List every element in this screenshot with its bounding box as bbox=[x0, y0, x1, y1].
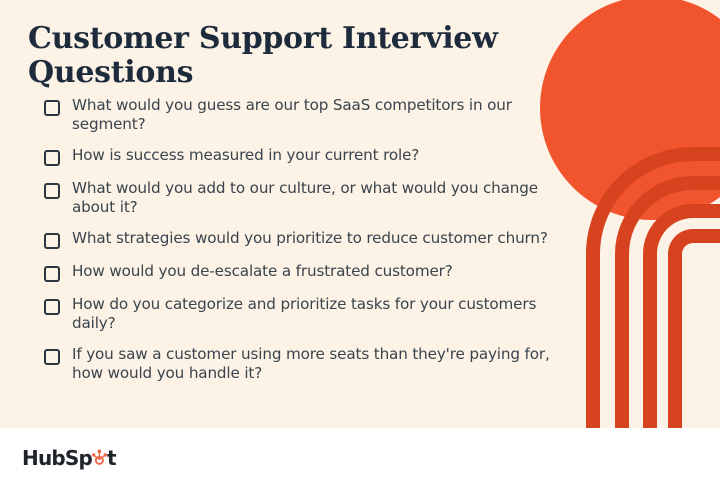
hubspot-logo[interactable]: HubSp t bbox=[22, 446, 116, 470]
list-item[interactable]: What would you guess are our top SaaS co… bbox=[44, 96, 579, 133]
slide-canvas: Customer Support Interview Questions Wha… bbox=[0, 0, 720, 480]
page-title-line-2: Questions bbox=[28, 55, 193, 90]
question-text: What would you guess are our top SaaS co… bbox=[72, 96, 579, 133]
question-text: If you saw a customer using more seats t… bbox=[72, 345, 579, 382]
empty-checkbox-icon[interactable] bbox=[44, 150, 60, 166]
question-text: How do you categorize and prioritize tas… bbox=[72, 295, 579, 332]
question-text: What strategies would you prioritize to … bbox=[72, 229, 579, 248]
question-text: How would you de-escalate a frustrated c… bbox=[72, 262, 579, 281]
list-item[interactable]: What would you add to our culture, or wh… bbox=[44, 179, 579, 216]
brand-name-prefix: HubSp bbox=[22, 448, 92, 468]
brand-name-suffix: t bbox=[107, 448, 116, 468]
list-item[interactable]: If you saw a customer using more seats t… bbox=[44, 345, 579, 382]
question-text: What would you add to our culture, or wh… bbox=[72, 179, 579, 216]
empty-checkbox-icon[interactable] bbox=[44, 299, 60, 315]
interview-questions-list: What would you guess are our top SaaS co… bbox=[44, 96, 579, 382]
list-item[interactable]: What strategies would you prioritize to … bbox=[44, 229, 579, 249]
empty-checkbox-icon[interactable] bbox=[44, 233, 60, 249]
page-title-line-1: Customer Support Interview bbox=[28, 21, 498, 56]
page-title: Customer Support Interview Questions bbox=[28, 22, 498, 90]
hubspot-sprocket-icon bbox=[92, 448, 107, 468]
list-item[interactable]: How is success measured in your current … bbox=[44, 146, 579, 166]
question-text: How is success measured in your current … bbox=[72, 146, 579, 165]
empty-checkbox-icon[interactable] bbox=[44, 183, 60, 199]
list-item[interactable]: How would you de-escalate a frustrated c… bbox=[44, 262, 579, 282]
empty-checkbox-icon[interactable] bbox=[44, 100, 60, 116]
empty-checkbox-icon[interactable] bbox=[44, 349, 60, 365]
list-item[interactable]: How do you categorize and prioritize tas… bbox=[44, 295, 579, 332]
empty-checkbox-icon[interactable] bbox=[44, 266, 60, 282]
